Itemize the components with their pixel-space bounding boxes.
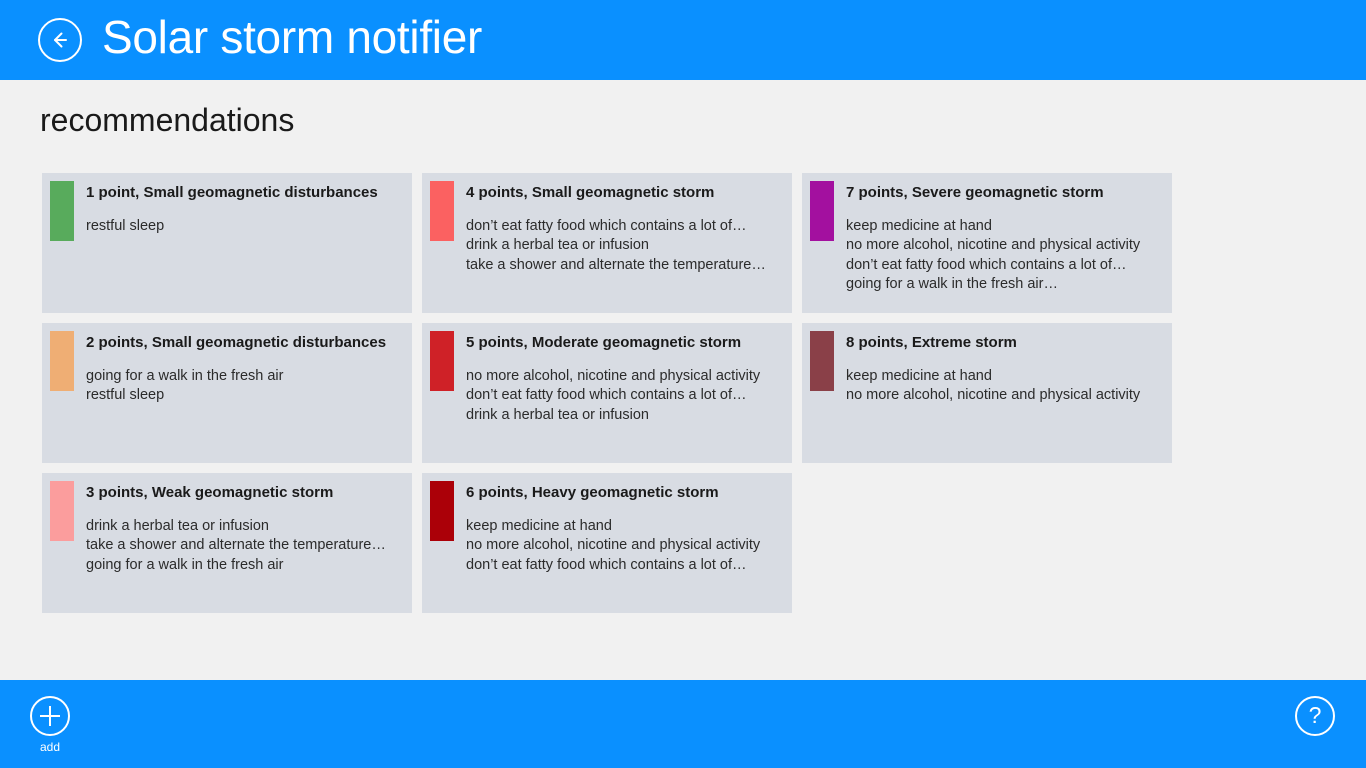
card-line: don’t eat fatty food which contains a lo…: [466, 386, 760, 406]
question-mark-icon: ?: [1295, 696, 1335, 736]
recommendations-grid: 1 point, Small geomagnetic disturbances …: [42, 173, 1202, 623]
card-title: 5 points, Moderate geomagnetic storm: [466, 334, 760, 353]
help-button[interactable]: ?: [1280, 696, 1350, 736]
severity-color-swatch: [810, 331, 834, 391]
card-line: don’t eat fatty food which contains a lo…: [466, 217, 766, 237]
card-body: 7 points, Severe geomagnetic storm keep …: [834, 173, 1150, 313]
card-line: don’t eat fatty food which contains a lo…: [846, 256, 1140, 276]
help-glyph: ?: [1309, 704, 1322, 729]
severity-color-swatch: [50, 481, 74, 541]
recommendation-card[interactable]: 2 points, Small geomagnetic disturbances…: [42, 323, 412, 463]
severity-color-swatch: [50, 181, 74, 241]
recommendation-card[interactable]: 6 points, Heavy geomagnetic storm keep m…: [422, 473, 792, 613]
card-body: 8 points, Extreme storm keep medicine at…: [834, 323, 1150, 463]
card-body: 6 points, Heavy geomagnetic storm keep m…: [454, 473, 770, 613]
card-line: keep medicine at hand: [846, 217, 1140, 237]
recommendation-card[interactable]: 3 points, Weak geomagnetic storm drink a…: [42, 473, 412, 613]
back-button[interactable]: [38, 18, 82, 62]
app-title: Solar storm notifier: [102, 14, 482, 66]
card-line: drink a herbal tea or infusion: [86, 517, 386, 537]
card-line: going for a walk in the fresh air: [86, 556, 386, 576]
card-line: no more alcohol, nicotine and physical a…: [846, 386, 1140, 406]
plus-icon: [30, 696, 70, 736]
card-line: no more alcohol, nicotine and physical a…: [466, 536, 760, 556]
recommendation-card[interactable]: 1 point, Small geomagnetic disturbances …: [42, 173, 412, 313]
card-body: 4 points, Small geomagnetic storm don’t …: [454, 173, 776, 313]
bottom-app-bar: add ?: [0, 680, 1366, 768]
severity-color-swatch: [430, 331, 454, 391]
recommendation-card[interactable]: 5 points, Moderate geomagnetic storm no …: [422, 323, 792, 463]
recommendation-card[interactable]: 8 points, Extreme storm keep medicine at…: [802, 323, 1172, 463]
card-title: 3 points, Weak geomagnetic storm: [86, 484, 386, 503]
card-title: 4 points, Small geomagnetic storm: [466, 184, 766, 203]
card-title: 8 points, Extreme storm: [846, 334, 1140, 353]
card-line: drink a herbal tea or infusion: [466, 406, 760, 426]
severity-color-swatch: [50, 331, 74, 391]
recommendation-card[interactable]: 4 points, Small geomagnetic storm don’t …: [422, 173, 792, 313]
card-title: 7 points, Severe geomagnetic storm: [846, 184, 1140, 203]
card-line: restful sleep: [86, 386, 386, 406]
card-title: 6 points, Heavy geomagnetic storm: [466, 484, 760, 503]
card-body: 2 points, Small geomagnetic disturbances…: [74, 323, 396, 463]
page-title: recommendations: [40, 101, 294, 139]
card-title: 2 points, Small geomagnetic disturbances: [86, 334, 386, 353]
card-body: 1 point, Small geomagnetic disturbances …: [74, 173, 388, 313]
card-line: going for a walk in the fresh air: [86, 367, 386, 387]
card-line: drink a herbal tea or infusion: [466, 236, 766, 256]
card-line: restful sleep: [86, 217, 378, 237]
severity-color-swatch: [810, 181, 834, 241]
add-button-label: add: [40, 741, 60, 753]
severity-color-swatch: [430, 481, 454, 541]
app-header: Solar storm notifier: [0, 0, 1366, 80]
recommendation-card[interactable]: 7 points, Severe geomagnetic storm keep …: [802, 173, 1172, 313]
card-title: 1 point, Small geomagnetic disturbances: [86, 184, 378, 203]
card-line: don’t eat fatty food which contains a lo…: [466, 556, 760, 576]
card-line: take a shower and alternate the temperat…: [86, 536, 386, 556]
card-body: 5 points, Moderate geomagnetic storm no …: [454, 323, 770, 463]
back-arrow-icon: [48, 28, 72, 52]
card-line: no more alcohol, nicotine and physical a…: [466, 367, 760, 387]
card-line: no more alcohol, nicotine and physical a…: [846, 236, 1140, 256]
card-line: take a shower and alternate the temperat…: [466, 256, 766, 276]
card-line: keep medicine at hand: [846, 367, 1140, 387]
card-line: keep medicine at hand: [466, 517, 760, 537]
card-line: going for a walk in the fresh air…: [846, 275, 1140, 295]
severity-color-swatch: [430, 181, 454, 241]
card-body: 3 points, Weak geomagnetic storm drink a…: [74, 473, 396, 613]
add-button[interactable]: add: [15, 696, 85, 753]
